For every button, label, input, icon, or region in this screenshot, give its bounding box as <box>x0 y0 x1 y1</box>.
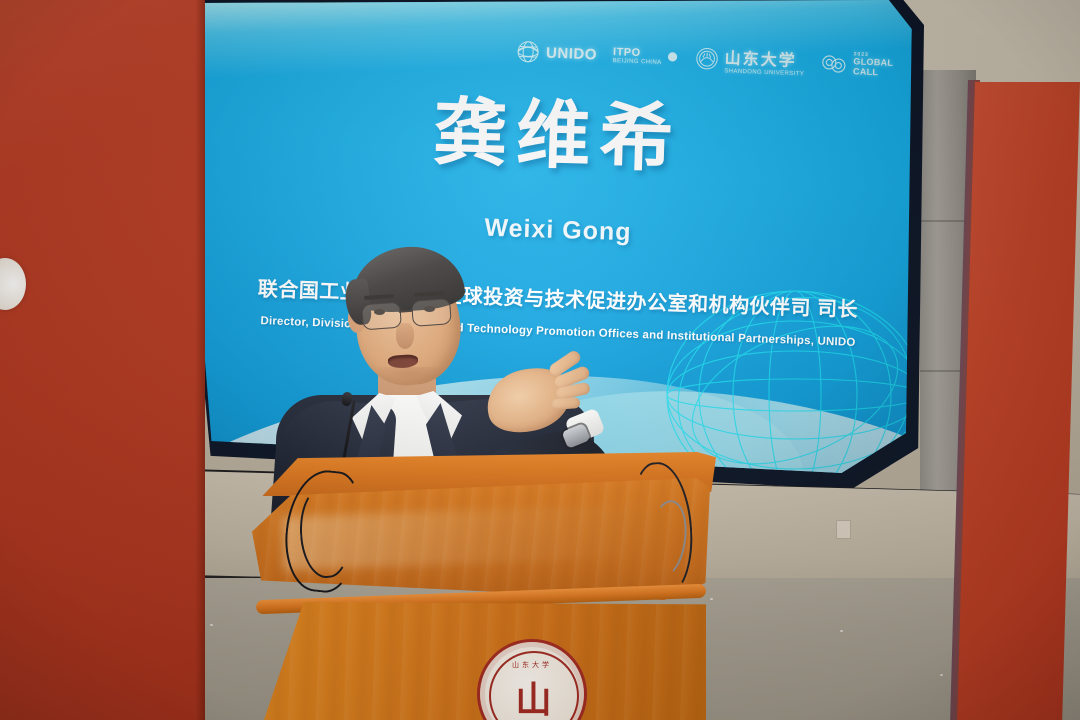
emblem-mark: 山 <box>515 682 548 718</box>
power-outlet <box>836 520 851 539</box>
emblem-chinese-text: 山东大学 <box>512 660 552 670</box>
nose <box>396 323 414 349</box>
presentation-photo-scene: UNIDO ITPO BEIJING CHINA <box>0 0 1080 720</box>
slide-title-chinese: 龚维希 <box>200 66 916 193</box>
right-red-wall-panel <box>957 82 1080 720</box>
chin-shadow <box>372 367 446 387</box>
left-red-wall-panel <box>0 0 205 720</box>
